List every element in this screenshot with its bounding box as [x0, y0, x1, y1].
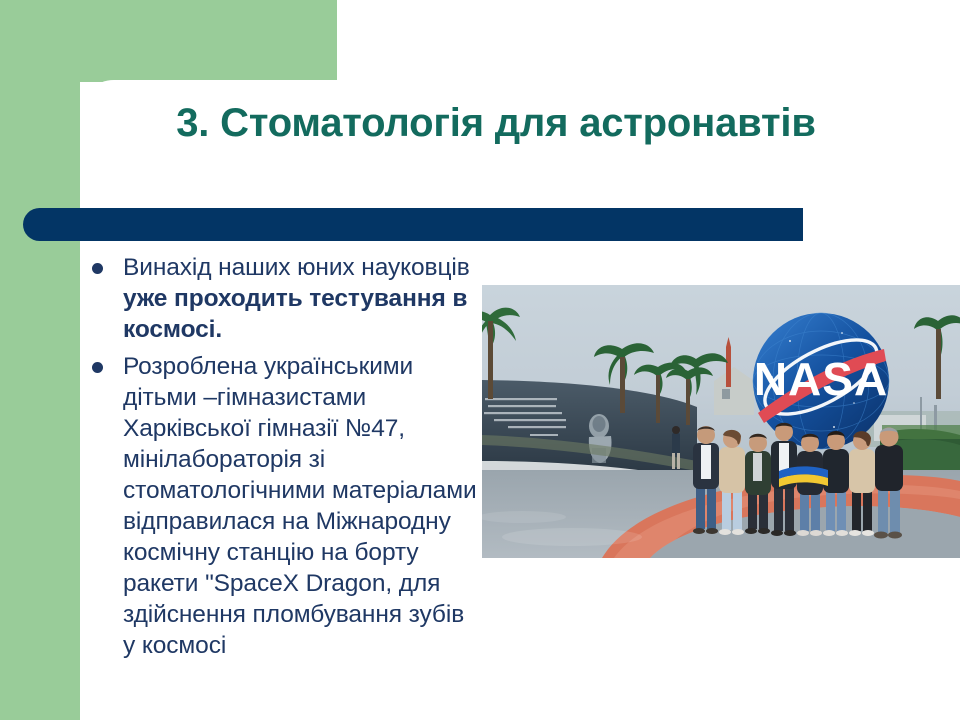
bullet-text-2: Розроблена українськими дітьми –гімназис…	[123, 351, 482, 661]
slide-canvas: 3. Стоматологія для астронавтів Винахід …	[0, 0, 960, 720]
navy-divider-bar	[23, 208, 803, 241]
svg-text:NASA: NASA	[754, 353, 888, 405]
bullet-dot-icon	[92, 263, 103, 274]
list-item: Винахід наших юних науковців уже проходи…	[92, 252, 482, 345]
slide-title: 3. Стоматологія для астронавтів	[96, 92, 896, 154]
bullet-1-plain: Винахід наших юних науковців	[123, 254, 470, 281]
green-accent-column-left	[0, 0, 80, 720]
nasa-photo-image: NASA	[482, 285, 960, 558]
bullet-text-1: Винахід наших юних науковців уже проходи…	[123, 252, 482, 345]
bullet-dot-icon	[92, 362, 103, 373]
list-item: Розроблена українськими дітьми –гімназис…	[92, 351, 482, 661]
bullet-1-bold: уже проходить тестування в космосі.	[123, 285, 467, 343]
bullet-list: Винахід наших юних науковців уже проходи…	[92, 252, 482, 667]
nasa-photo: NASA	[482, 285, 960, 558]
